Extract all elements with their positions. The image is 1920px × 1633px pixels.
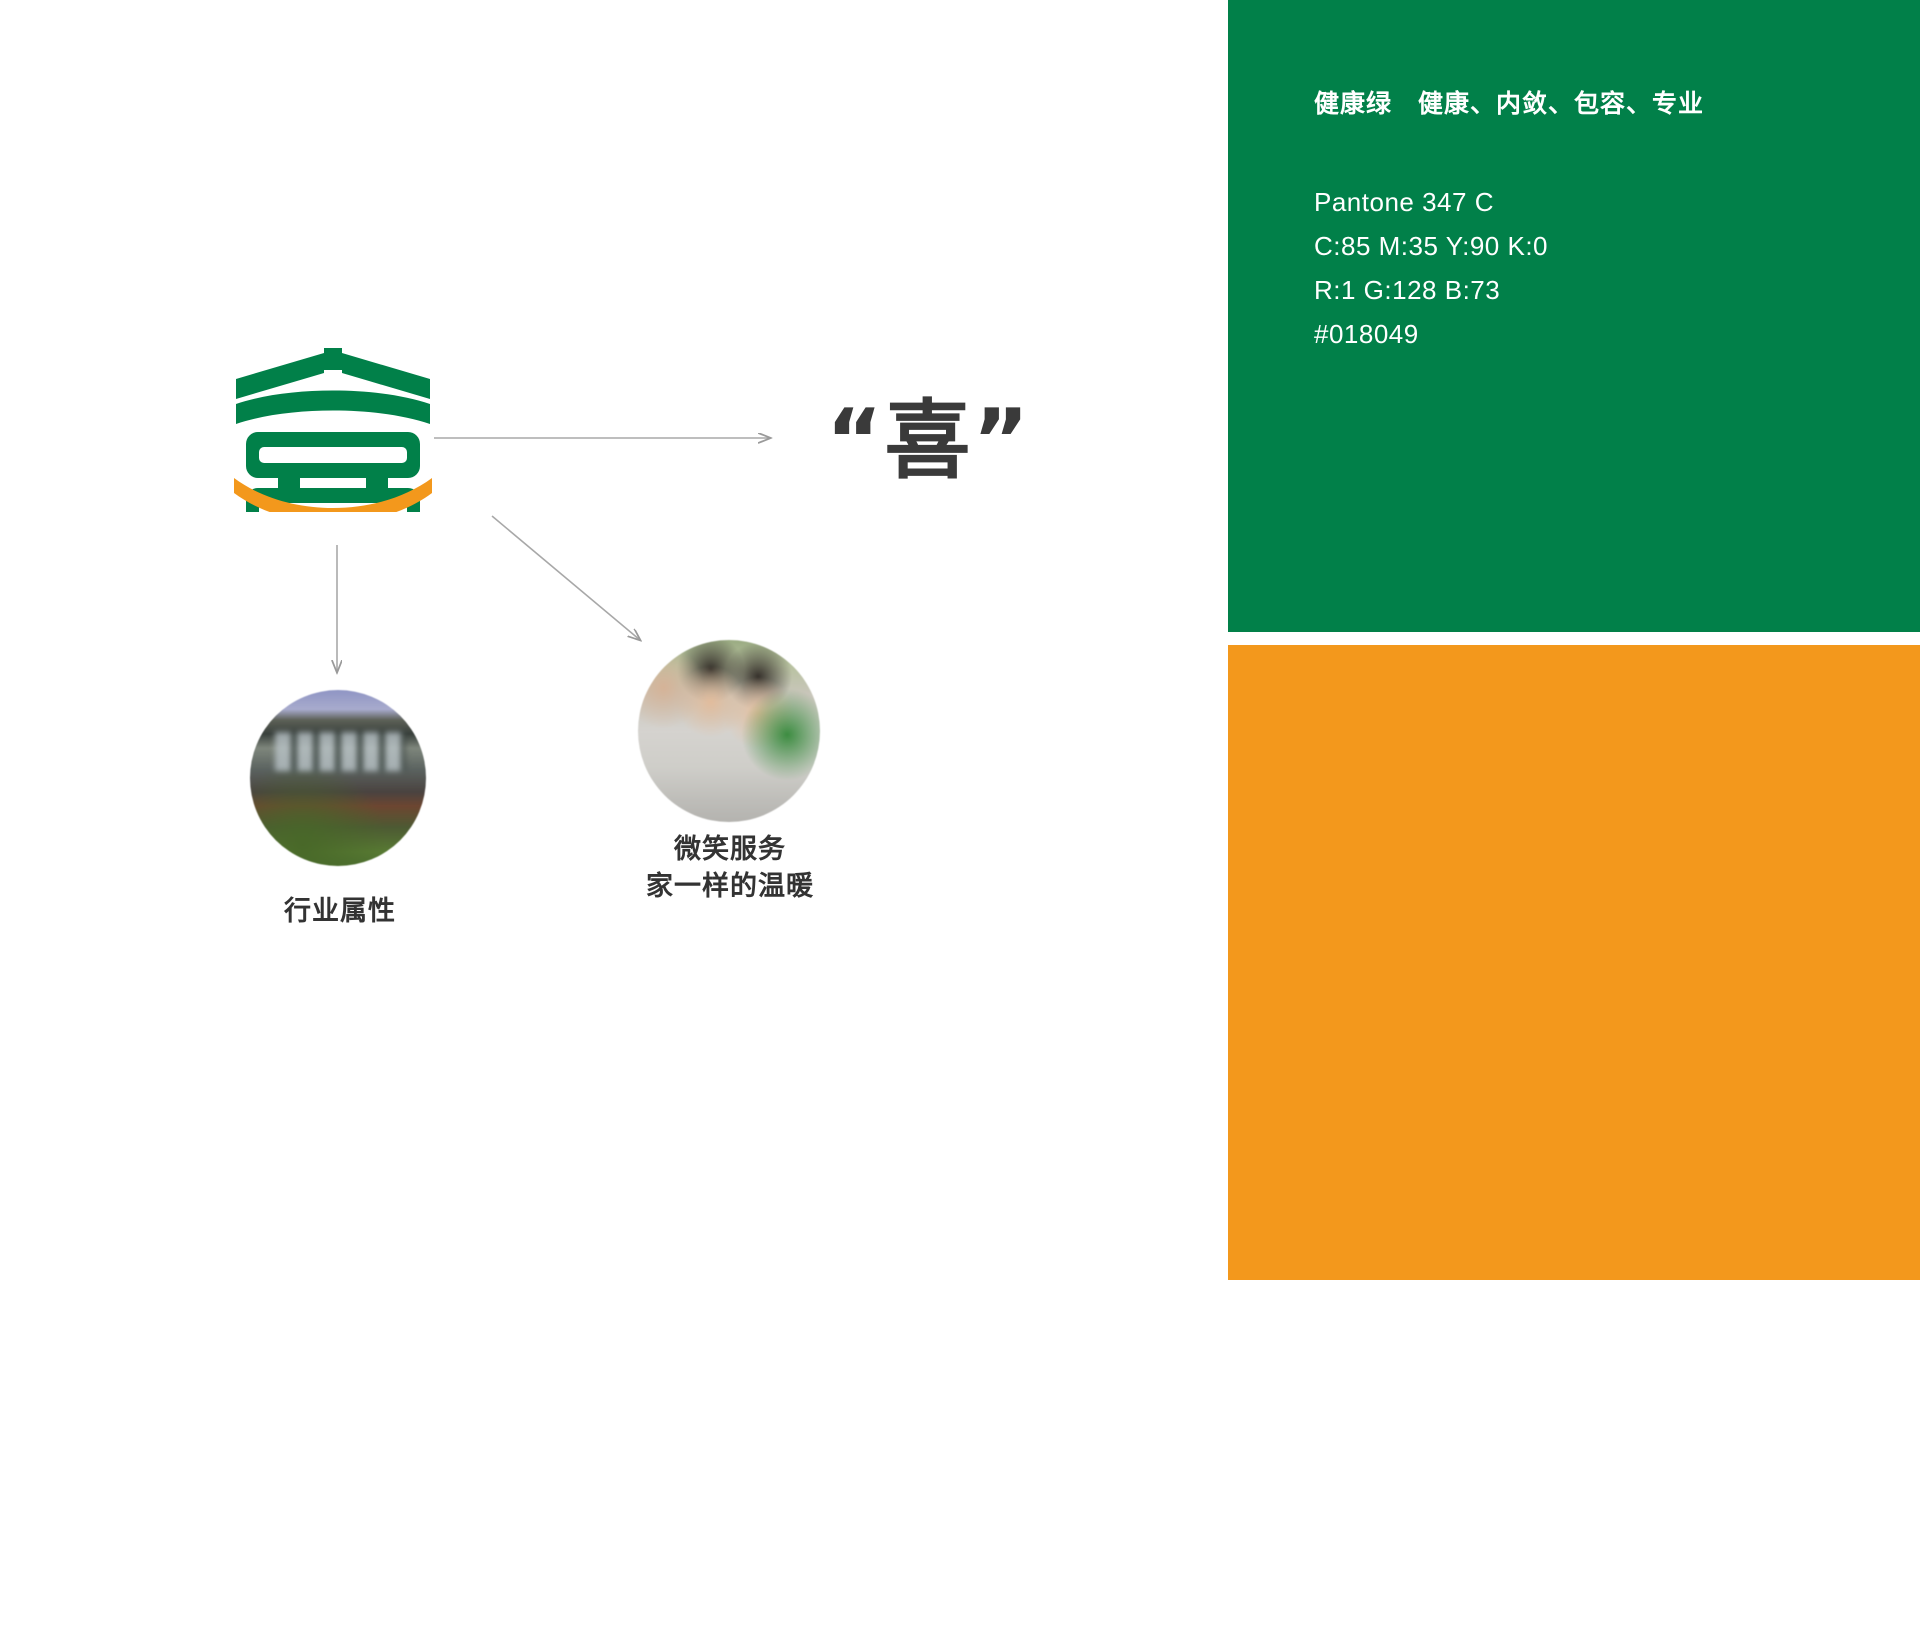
panel-warm-yellow-rgb: R:243 G:152 B:28 bbox=[1314, 1545, 1533, 1589]
panel-health-green-specs: Pantone 347 C C:85 M:35 Y:90 K:0 R:1 G:1… bbox=[1314, 180, 1548, 356]
logo-green-strokes bbox=[236, 348, 430, 512]
concept-glyph: “喜” bbox=[826, 370, 1031, 495]
panel-health-green-heading: 健康绿 健康、内敛、包容、专业 bbox=[1314, 84, 1704, 120]
panel-health-green-cmyk: C:85 M:35 Y:90 K:0 bbox=[1314, 224, 1548, 268]
slide-canvas: “喜” 行业属性 微笑服务 家一样的温暖 健康绿 健康、内敛、包容、专业 Pan… bbox=[0, 0, 1920, 1280]
panel-health-green-rgb: R:1 G:128 B:73 bbox=[1314, 268, 1548, 312]
panel-warm-yellow: 温暖黄 温暖、阳光、贴心 Pantone 1375 C C:0 M:50 Y:9… bbox=[1228, 645, 1920, 1280]
arrows-layer bbox=[0, 0, 1228, 1280]
panel-health-green-hex: #018049 bbox=[1314, 312, 1548, 356]
panel-health-green-pantone: Pantone 347 C bbox=[1314, 180, 1548, 224]
industry-caption: 行业属性 bbox=[190, 893, 490, 930]
panel-warm-yellow-pantone: Pantone 1375 C bbox=[1314, 1457, 1533, 1501]
brand-logo-svg bbox=[228, 332, 438, 512]
brand-logo bbox=[228, 332, 438, 512]
service-caption: 微笑服务 家一样的温暖 bbox=[580, 831, 880, 905]
industry-photo bbox=[250, 690, 426, 866]
panel-health-green: 健康绿 健康、内敛、包容、专业 Pantone 347 C C:85 M:35 … bbox=[1228, 0, 1920, 632]
service-caption-line-2: 家一样的温暖 bbox=[580, 868, 880, 905]
panel-warm-yellow-hex: #F3981C bbox=[1314, 1589, 1533, 1633]
panel-warm-yellow-heading: 温暖黄 温暖、阳光、贴心 bbox=[1314, 1378, 1626, 1414]
arrow-to-service-line bbox=[492, 516, 640, 640]
panel-warm-yellow-specs: Pantone 1375 C C:0 M:50 Y:90 K:0 R:243 G… bbox=[1314, 1457, 1533, 1633]
panel-warm-yellow-cmyk: C:0 M:50 Y:90 K:0 bbox=[1314, 1501, 1533, 1545]
industry-caption-line-1: 行业属性 bbox=[190, 893, 490, 930]
service-caption-line-1: 微笑服务 bbox=[580, 831, 880, 868]
service-photo bbox=[638, 640, 820, 822]
